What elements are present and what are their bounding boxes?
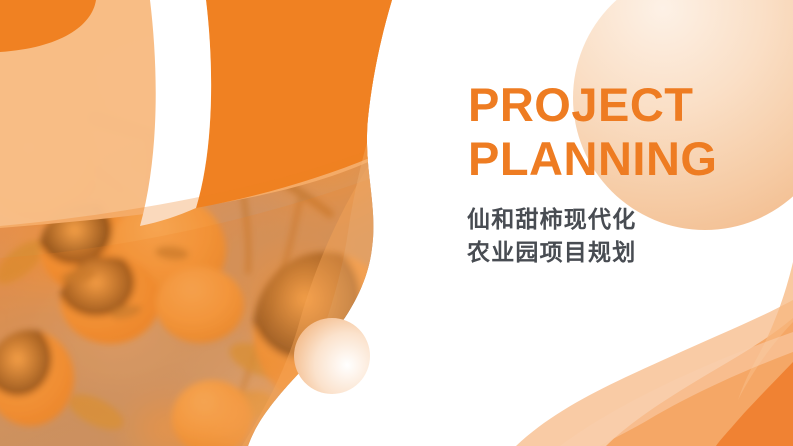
title-line-1: PROJECT [468, 78, 778, 132]
slide-title: PROJECT PLANNING [468, 78, 778, 186]
subtitle-line-1: 仙和甜柿现代化 [467, 203, 777, 236]
wave-mid [606, 318, 793, 446]
subtitle-line-2: 农业园项目规划 [467, 236, 777, 269]
top-left-color-bands [0, 0, 393, 446]
title-line-2: PLANNING [468, 132, 778, 186]
slide-subtitle: 仙和甜柿现代化 农业园项目规划 [467, 203, 777, 269]
photo-ribbon-overlay [242, 60, 393, 446]
wave-lightest [560, 332, 793, 446]
persimmon-photo [0, 0, 440, 446]
wave-deep [716, 362, 793, 446]
wave-sliver [738, 262, 793, 400]
wave-pale [516, 300, 793, 446]
cover-slide: PROJECT PLANNING 仙和甜柿现代化 农业园项目规划 [0, 0, 793, 446]
